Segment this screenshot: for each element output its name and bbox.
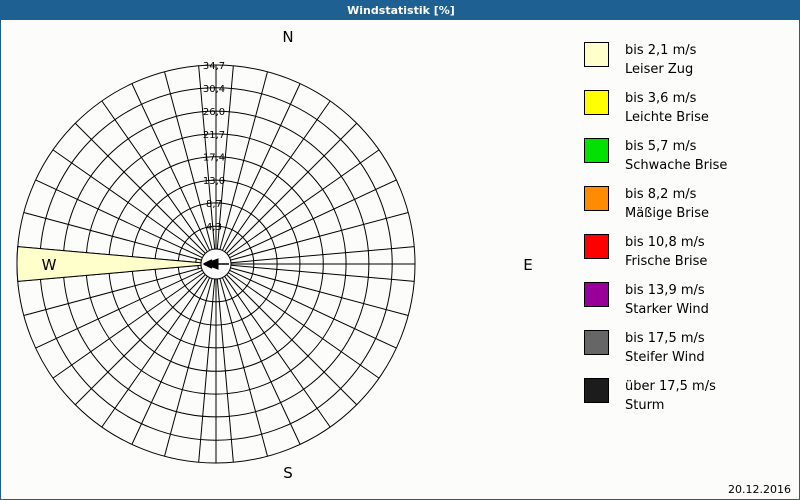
grid-spoke: [75, 275, 205, 405]
legend-beaufort-name: Sturm: [625, 396, 716, 415]
grid-spoke: [227, 123, 357, 253]
grid-spoke: [36, 270, 203, 348]
grid-spoke: [230, 180, 397, 258]
legend-item: bis 8,2 m/sMäßige Brise: [584, 185, 794, 226]
radial-tick-label: 21,7: [203, 130, 225, 141]
legend-beaufort-name: Leiser Zug: [625, 60, 696, 79]
grid-spoke: [132, 84, 210, 251]
legend-item: bis 2,1 m/sLeiser Zug: [584, 41, 794, 82]
legend-item: bis 17,5 m/sSteifer Wind: [584, 329, 794, 370]
legend-item: bis 13,9 m/sStarker Wind: [584, 281, 794, 322]
legend-label: bis 5,7 m/sSchwache Brise: [625, 137, 727, 175]
legend-speed-range: bis 5,7 m/s: [625, 137, 727, 156]
windstatistik-window: Windstatistik [%] 4,38,713,017,421,726,0…: [0, 0, 800, 500]
legend-item: über 17,5 m/sSturm: [584, 377, 794, 418]
legend-item: bis 10,8 m/sFrische Brise: [584, 233, 794, 274]
compass-label-west: W: [42, 256, 57, 274]
legend-label: bis 3,6 m/sLeichte Brise: [625, 89, 709, 127]
legend-beaufort-name: Frische Brise: [625, 252, 707, 271]
wind-speed-legend: bis 2,1 m/sLeiser Zugbis 3,6 m/sLeichte …: [584, 41, 794, 425]
legend-color-swatch: [584, 378, 609, 403]
legend-label: über 17,5 m/sSturm: [625, 377, 716, 415]
legend-speed-range: bis 3,6 m/s: [625, 89, 709, 108]
legend-speed-range: bis 8,2 m/s: [625, 185, 709, 204]
legend-item: bis 3,6 m/sLeichte Brise: [584, 89, 794, 130]
grid-spoke: [230, 213, 408, 261]
legend-label: bis 10,8 m/sFrische Brise: [625, 233, 707, 271]
radial-tick-label: 17,4: [203, 153, 225, 164]
legend-label: bis 17,5 m/sSteifer Wind: [625, 329, 705, 367]
compass-label-north: N: [282, 28, 293, 46]
compass-label-east: E: [523, 256, 532, 274]
grid-spoke: [220, 278, 268, 456]
legend-speed-range: bis 10,8 m/s: [625, 233, 707, 252]
window-title: Windstatistik [%]: [347, 4, 455, 17]
legend-beaufort-name: Steifer Wind: [625, 348, 705, 367]
radial-tick-label: 26,0: [203, 107, 225, 118]
grid-spoke: [230, 268, 408, 316]
legend-beaufort-name: Schwache Brise: [625, 156, 727, 175]
grid-spoke: [165, 278, 213, 456]
legend-color-swatch: [584, 282, 609, 307]
grid-spoke: [36, 180, 203, 258]
legend-beaufort-name: Mäßige Brise: [625, 204, 709, 223]
window-titlebar: Windstatistik [%]: [1, 1, 800, 20]
grid-spoke: [220, 72, 268, 250]
grid-spoke: [222, 278, 300, 445]
grid-spoke: [227, 275, 357, 405]
legend-color-swatch: [584, 138, 609, 163]
legend-color-swatch: [584, 42, 609, 67]
legend-speed-range: bis 2,1 m/s: [625, 41, 696, 60]
legend-color-swatch: [584, 90, 609, 115]
compass-label-south: S: [283, 464, 293, 482]
grid-spoke: [75, 123, 205, 253]
radial-tick-label: 13,0: [203, 176, 225, 187]
legend-label: bis 8,2 m/sMäßige Brise: [625, 185, 709, 223]
legend-item: bis 5,7 m/sSchwache Brise: [584, 137, 794, 178]
legend-speed-range: bis 17,5 m/s: [625, 329, 705, 348]
legend-color-swatch: [584, 186, 609, 211]
center-hub: [201, 249, 231, 279]
legend-beaufort-name: Leichte Brise: [625, 108, 709, 127]
radial-tick-label: 30,4: [203, 84, 225, 95]
legend-label: bis 13,9 m/sStarker Wind: [625, 281, 709, 319]
date-stamp: 20.12.2016: [728, 483, 791, 496]
radial-tick-label: 34,7: [203, 61, 225, 72]
legend-color-swatch: [584, 330, 609, 355]
wind-rose-svg: 4,38,713,017,421,726,030,434,7 N S W E: [1, 20, 576, 500]
grid-spoke: [222, 84, 300, 251]
legend-beaufort-name: Starker Wind: [625, 300, 709, 319]
radial-tick-label: 4,3: [206, 222, 222, 233]
legend-speed-range: über 17,5 m/s: [625, 377, 716, 396]
grid-spoke: [132, 278, 210, 445]
legend-label: bis 2,1 m/sLeiser Zug: [625, 41, 696, 79]
grid-spoke: [230, 270, 397, 348]
wind-rose-plot: 4,38,713,017,421,726,030,434,7 N S W E: [1, 20, 576, 500]
legend-color-swatch: [584, 234, 609, 259]
legend-speed-range: bis 13,9 m/s: [625, 281, 709, 300]
radial-tick-label: 8,7: [206, 199, 222, 210]
